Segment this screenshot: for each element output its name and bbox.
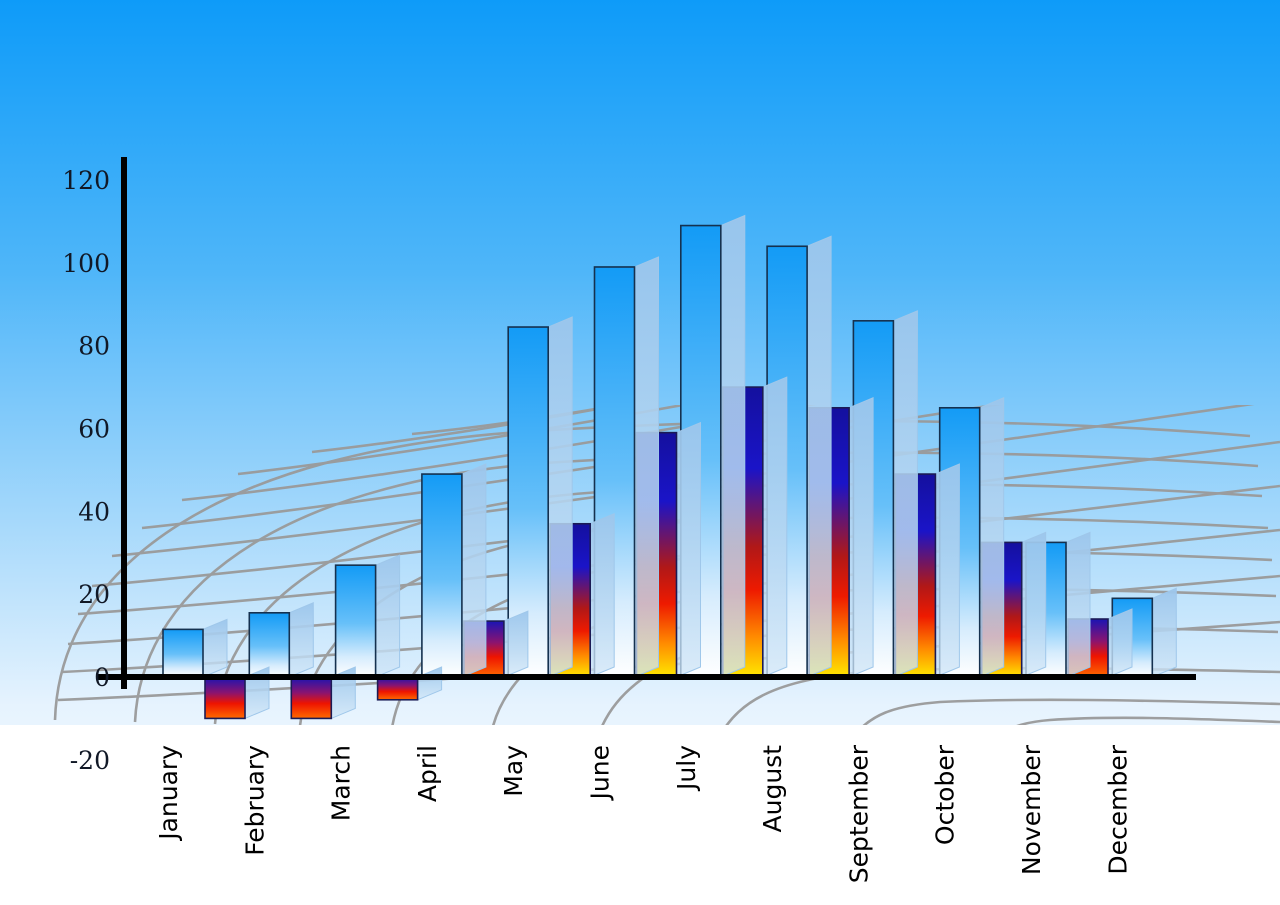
y-tick-label: 20	[78, 580, 110, 609]
bar-shadow	[1066, 532, 1090, 677]
bar-shadow	[1022, 532, 1046, 677]
bar-shadow	[376, 555, 400, 677]
bar-series-2	[378, 677, 418, 700]
bar-shadow	[504, 611, 528, 677]
x-category-label: July	[672, 745, 701, 792]
x-category-label: October	[931, 744, 960, 845]
bar-shadow	[203, 619, 227, 677]
x-category-label: December	[1103, 744, 1132, 874]
x-category-label: March	[327, 745, 356, 821]
bar-shadow	[635, 257, 659, 677]
bar-chart: -20020406080100120 JanuaryFebruaryMarchA…	[0, 0, 1280, 905]
x-category-label: November	[1017, 744, 1046, 875]
bar-shadow	[763, 377, 787, 677]
x-category-label: January	[154, 745, 183, 842]
bar-shadow	[289, 603, 313, 677]
bar-shadow	[935, 464, 959, 677]
bar-shadow	[721, 216, 745, 677]
bar-series-1	[422, 474, 462, 677]
bar-shadow	[548, 317, 572, 677]
y-tick-label: 100	[62, 249, 110, 278]
bar-shadow	[677, 423, 701, 677]
chart-container: -20020406080100120 JanuaryFebruaryMarchA…	[0, 0, 1280, 905]
x-category-label: February	[240, 745, 269, 856]
bar-shadow	[590, 514, 614, 677]
y-tick-label: 60	[78, 415, 110, 444]
lower-white-band	[0, 725, 1280, 905]
y-tick-label: 0	[94, 663, 110, 692]
x-category-label: May	[499, 745, 528, 797]
y-tick-label: 80	[78, 332, 110, 361]
x-category-label: August	[758, 745, 787, 833]
y-tick-label: 40	[78, 497, 110, 526]
x-category-label: September	[844, 744, 873, 883]
y-tick-label: -20	[70, 746, 110, 775]
bar-shadow	[980, 398, 1004, 677]
bar-series-2	[205, 677, 245, 718]
y-tick-label: 120	[62, 166, 110, 195]
bar-shadow	[1108, 609, 1132, 677]
bar-series-1	[163, 629, 203, 677]
bar-series-2	[291, 677, 331, 718]
bar-series-1	[336, 565, 376, 677]
bar-shadow	[849, 398, 873, 677]
bar-shadow	[1152, 588, 1176, 677]
x-category-label: June	[586, 745, 615, 801]
x-category-label: April	[413, 745, 442, 802]
bar-shadow	[462, 464, 486, 677]
bar-shadow	[807, 236, 831, 677]
bar-shadow	[893, 311, 917, 677]
